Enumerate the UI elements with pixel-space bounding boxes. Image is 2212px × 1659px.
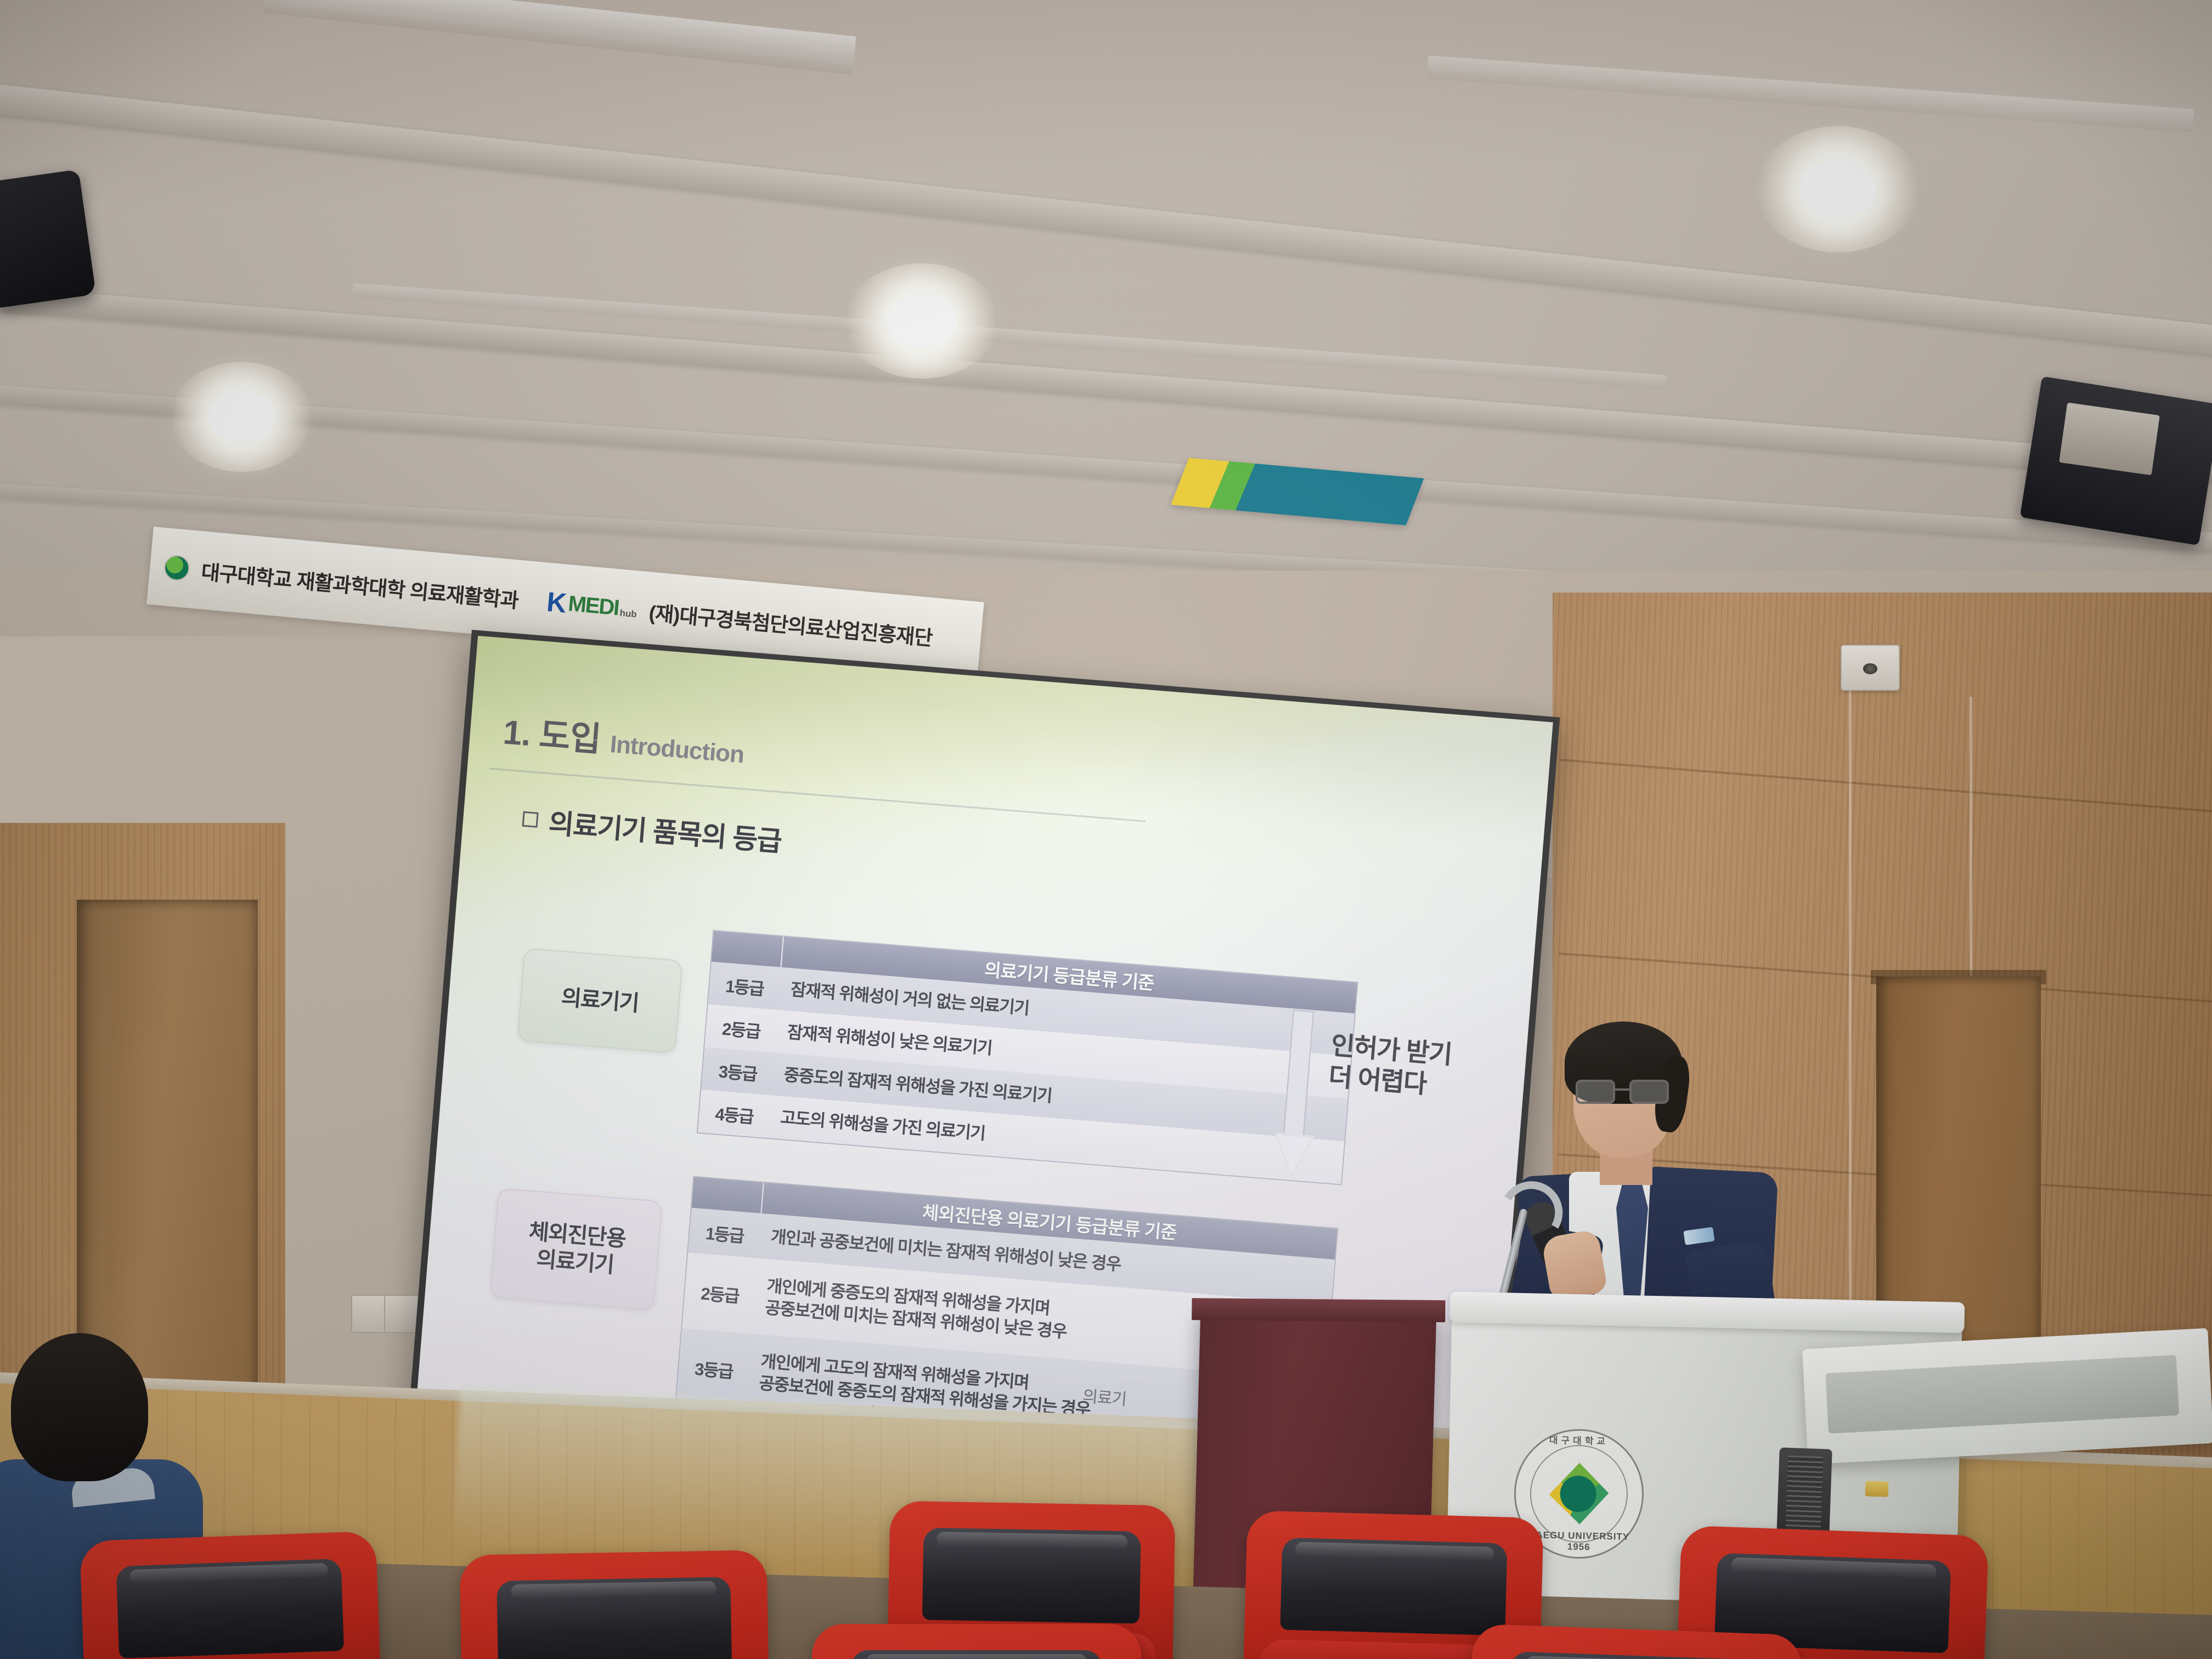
table-medical-device-grades: 의료기기 등급분류 기준 1등급 잠재적 위해성이 거의 없는 의료기기 2등급… <box>697 930 1358 1185</box>
lecture-hall-photo: 대구대학교 재활과학대학 의료재활학과 K MEDI hub (재)대구경북첨단… <box>0 0 2212 1659</box>
slide-title: 1. 도입 Introduction <box>501 704 746 772</box>
ceiling-downlight <box>170 362 313 472</box>
auditorium-seat[interactable] <box>80 1531 381 1659</box>
table-header-spacer <box>712 931 784 967</box>
eyeglasses-icon <box>1576 1080 1674 1104</box>
wall-seam <box>1849 647 1852 1393</box>
ceiling-downlight <box>845 263 998 379</box>
hand-holding-microphone <box>1541 1229 1609 1301</box>
wall-equipment-box <box>2059 403 2160 476</box>
grade-label: 1등급 <box>708 962 782 1010</box>
category-label-line2: 의료기기 <box>535 1246 615 1279</box>
daegu-university-mark-icon <box>163 554 190 582</box>
ceiling-beam <box>0 384 2212 554</box>
category-pill-medical-device: 의료기기 <box>517 948 683 1054</box>
category-pill-ivd-device: 체외진단용 의료기기 <box>490 1188 663 1310</box>
slide-title-number: 1. 도입 <box>501 704 603 761</box>
ceiling-downlight <box>1756 126 1920 252</box>
slide-subheading: 의료기기 품목의 등급 <box>521 799 783 860</box>
kmedihub-logo-k: K <box>546 589 568 616</box>
slide-annotation: 인허가 받기 더 어렵다 <box>1327 1029 1453 1102</box>
kmedihub-logo-medi: MEDI <box>567 594 619 618</box>
auditorium-seat[interactable] <box>812 1624 1141 1659</box>
podium-button[interactable] <box>1865 1481 1889 1497</box>
grade-label: 3등급 <box>701 1047 775 1095</box>
podium-desk-surface <box>1802 1328 2212 1464</box>
slide-title-english: Introduction <box>609 731 745 769</box>
grade-label: 1등급 <box>688 1208 761 1259</box>
grade-label: 2등급 <box>682 1252 758 1334</box>
grade-label: 4등급 <box>698 1090 771 1138</box>
slide-subheading-label: 의료기기 품목의 등급 <box>548 802 783 860</box>
kmedihub-logo-hub: hub <box>619 607 637 620</box>
kmedihub-logo-icon: K MEDI hub <box>546 589 639 622</box>
square-bullet-icon <box>522 811 539 828</box>
banner-department-label: 대구대학교 재활과학대학 의료재활학과 <box>200 555 520 613</box>
banner-sponsor-label: (재)대구경북첨단의료산업진흥재단 <box>648 596 934 652</box>
slide-footer-source: 의료기 <box>1082 1383 1127 1410</box>
wall-sensor-icon <box>1841 645 1900 691</box>
category-label: 의료기기 <box>560 984 640 1017</box>
ceiling-light-slot <box>263 0 856 75</box>
grade-label: 2등급 <box>704 1005 778 1053</box>
auditorium-seat[interactable] <box>459 1550 769 1659</box>
ceiling-light-slot <box>1426 55 2194 132</box>
emblem-korean-label: 대구대학교 <box>1516 1432 1641 1448</box>
table-header-spacer <box>692 1177 764 1214</box>
